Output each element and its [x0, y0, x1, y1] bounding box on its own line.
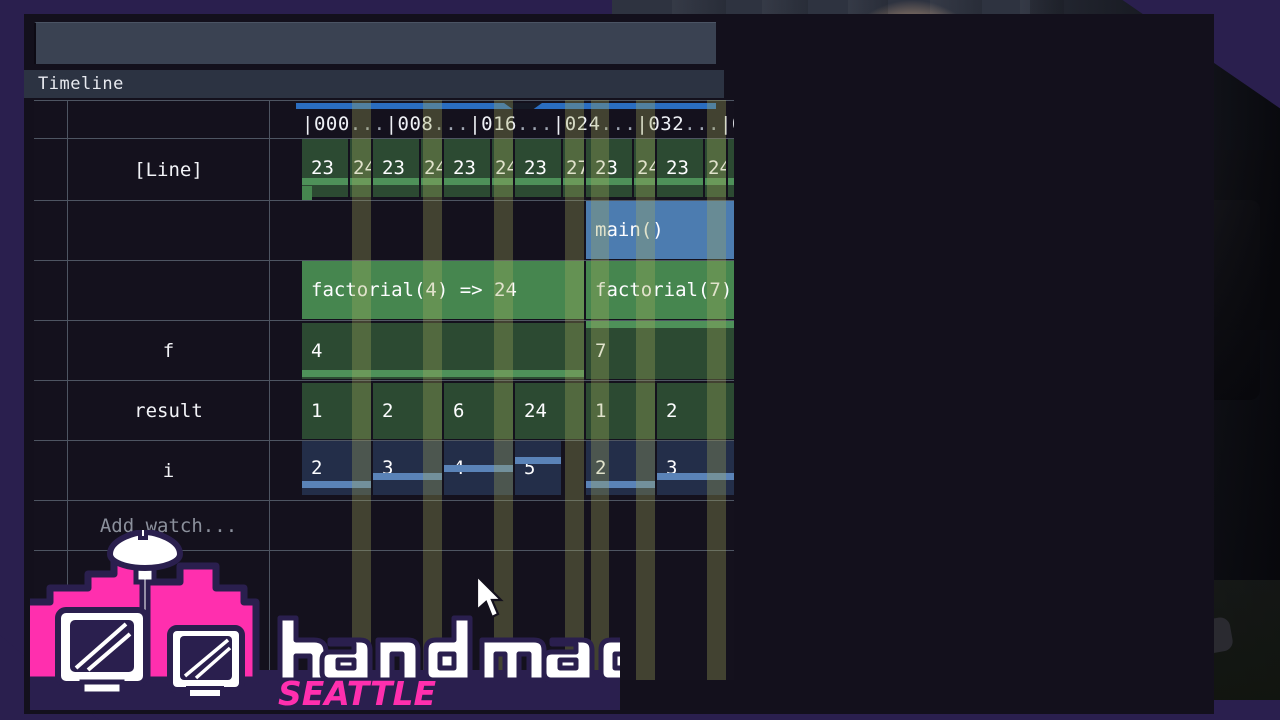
row-gutter: [34, 441, 68, 500]
line-number: 23: [657, 157, 689, 179]
row-label-i: i: [68, 441, 270, 500]
logo-subtitle: SEATTLE: [278, 674, 436, 710]
ruler-tick-dots: ...: [517, 113, 553, 135]
watch-activity-bar: [586, 321, 734, 328]
line-number: 27: [563, 157, 584, 179]
horizontal-scrollbar[interactable]: [296, 103, 716, 109]
watch-value: 1: [302, 400, 322, 422]
mouse-cursor: [474, 574, 504, 620]
line-activity-bar: [421, 178, 442, 185]
scrollbar-playhead-marker[interactable]: [504, 103, 542, 109]
line-activity-bar: [705, 178, 726, 185]
line-lane[interactable]: 23242324232423272324232423: [296, 139, 734, 200]
watch-value: 1: [586, 400, 606, 422]
crt-monitor-icon: [58, 610, 146, 694]
ruler-tick-dots: ...: [601, 113, 637, 135]
timeline-row-line[interactable]: [Line] 23242324232423272324232423: [34, 138, 734, 200]
line-activity-bar: [728, 178, 734, 185]
watch-f-lane[interactable]: 47: [296, 321, 734, 380]
watch-result-lane[interactable]: 1262412: [296, 381, 734, 440]
line-activity-bar: [302, 178, 348, 185]
ruler-tick-dots: ...: [433, 113, 469, 135]
timeline-row-watch-i[interactable]: i 234523: [34, 440, 734, 500]
row-spacer: [270, 321, 296, 380]
row-label: [68, 201, 270, 260]
callstack-block-main[interactable]: main(): [586, 201, 734, 259]
ruler-tick: |032: [636, 113, 684, 135]
ruler-tick: |040: [720, 113, 734, 135]
ruler-tick: |024: [553, 113, 601, 135]
timeline-row-callstack-inner[interactable]: factorial(4) => 24factorial(7): [34, 260, 734, 320]
watch-value-block[interactable]: 6: [444, 383, 513, 439]
watch-activity-bar: [302, 370, 584, 377]
row-gutter: [34, 321, 68, 380]
line-block[interactable]: 23: [728, 139, 734, 197]
watch-value: 6: [444, 400, 464, 422]
row-gutter: [34, 101, 68, 138]
watch-step-bar: [373, 473, 442, 480]
line-block[interactable]: 24: [705, 139, 726, 197]
page-title: Timeline: [24, 74, 124, 94]
watch-value-block[interactable]: 3: [373, 441, 442, 495]
line-block[interactable]: 23: [373, 139, 419, 197]
watch-i-lane[interactable]: 234523: [296, 441, 734, 500]
logo-artwork: SEATTLE: [30, 530, 620, 710]
line-number: 24: [492, 157, 513, 179]
watch-value: 2: [657, 400, 677, 422]
row-spacer: [270, 201, 296, 260]
row-spacer: [270, 261, 296, 320]
callstack-label: factorial(7): [586, 279, 732, 301]
watch-value-block[interactable]: 2: [657, 383, 734, 439]
line-number: 23: [444, 157, 476, 179]
timeline-row-watch-result[interactable]: result 1262412: [34, 380, 734, 440]
line-number: 24: [634, 157, 655, 179]
watch-value: 24: [515, 400, 547, 422]
line-number: 24: [421, 157, 442, 179]
row-label: [68, 261, 270, 320]
line-activity-bar: [563, 178, 584, 185]
timeline-row-callstack-outer[interactable]: main(): [34, 200, 734, 260]
line-activity-bar: [373, 178, 419, 185]
line-block[interactable]: 23: [657, 139, 703, 197]
watch-value-block[interactable]: 2: [373, 383, 442, 439]
row-label-result: result: [68, 381, 270, 440]
watch-value: 2: [302, 457, 322, 479]
ruler-lane[interactable]: |000...|008...|016...|024...|032...|040.…: [296, 101, 734, 138]
ruler-tick: |000: [302, 113, 350, 135]
line-number: 24: [350, 157, 371, 179]
watch-value-block[interactable]: 4: [302, 323, 584, 379]
watch-value-block[interactable]: 3: [657, 441, 734, 495]
line-activity-bar: [444, 178, 490, 185]
ruler-tick: |016: [469, 113, 517, 135]
timeline-row-watch-f[interactable]: f 47: [34, 320, 734, 380]
line-number: 23: [586, 157, 618, 179]
line-activity-bar: [634, 178, 655, 185]
line-number: 23: [515, 157, 547, 179]
watch-value: 2: [586, 457, 606, 479]
watch-value-block[interactable]: 5: [515, 441, 561, 495]
watch-value-block[interactable]: 24: [515, 383, 584, 439]
timeline-panel-header: Timeline: [24, 70, 724, 98]
line-activity-bar: [657, 178, 703, 185]
line-activity-bar: [586, 178, 632, 185]
watch-value-block[interactable]: 1: [586, 383, 655, 439]
line-number: 24: [705, 157, 726, 179]
callstack-block-factorial[interactable]: factorial(7): [586, 261, 734, 319]
watch-value-block[interactable]: 7: [586, 323, 734, 379]
watch-value: 2: [373, 400, 393, 422]
row-gutter: [34, 261, 68, 320]
line-block[interactable]: 23: [444, 139, 490, 197]
line-block[interactable]: 24: [350, 139, 371, 197]
line-entry-stub: [302, 186, 312, 200]
watch-value: 4: [302, 340, 322, 362]
row-label-line: [Line]: [68, 139, 270, 200]
line-block[interactable]: 23: [515, 139, 561, 197]
timeline-row-ruler: |000...|008...|016...|024...|032...|040.…: [34, 100, 734, 138]
callstack-label: main(): [586, 219, 664, 241]
row-spacer: [270, 441, 296, 500]
row-gutter: [34, 201, 68, 260]
line-block[interactable]: 27: [563, 139, 584, 197]
line-number: 23: [373, 157, 405, 179]
row-spacer: [270, 139, 296, 200]
watch-step-bar: [302, 481, 371, 488]
line-number: 23: [302, 157, 334, 179]
line-block[interactable]: 24: [492, 139, 513, 197]
row-gutter: [34, 381, 68, 440]
crt-monitor-icon: [170, 628, 242, 698]
watch-step-bar: [515, 457, 561, 464]
watch-value: 7: [586, 340, 606, 362]
callstack-label: factorial(4) => 24: [302, 279, 517, 301]
ruler-tick-dots: ...: [684, 113, 720, 135]
row-label: [68, 101, 270, 138]
screenshot-stage: Timeline |000...|008...|016...|024...|03…: [0, 0, 1280, 720]
line-block[interactable]: 24: [634, 139, 655, 197]
line-activity-bar: [492, 178, 513, 185]
handmade-seattle-logo: SEATTLE: [30, 530, 620, 710]
watch-step-bar: [657, 473, 734, 480]
line-number: 23: [728, 157, 734, 179]
line-block[interactable]: 24: [421, 139, 442, 197]
line-block[interactable]: 23: [586, 139, 632, 197]
ruler-ticks: |000...|008...|016...|024...|032...|040.…: [302, 111, 734, 137]
toolbar[interactable]: [34, 22, 716, 64]
callstack-block-factorial[interactable]: factorial(4) => 24: [302, 261, 584, 319]
watch-step-bar: [586, 481, 655, 488]
logo-wordmark: [280, 618, 620, 680]
row-spacer: [270, 381, 296, 440]
watch-value-block[interactable]: 1: [302, 383, 371, 439]
row-gutter: [34, 139, 68, 200]
ruler-tick-dots: ...: [350, 113, 386, 135]
row-spacer: [270, 101, 296, 138]
ruler-tick: |008: [386, 113, 434, 135]
watch-step-bar: [444, 465, 513, 472]
row-label-f: f: [68, 321, 270, 380]
line-activity-bar: [350, 178, 371, 185]
callstack-outer-lane[interactable]: main(): [296, 201, 734, 260]
callstack-inner-lane[interactable]: factorial(4) => 24factorial(7): [296, 261, 734, 320]
line-activity-bar: [515, 178, 561, 185]
